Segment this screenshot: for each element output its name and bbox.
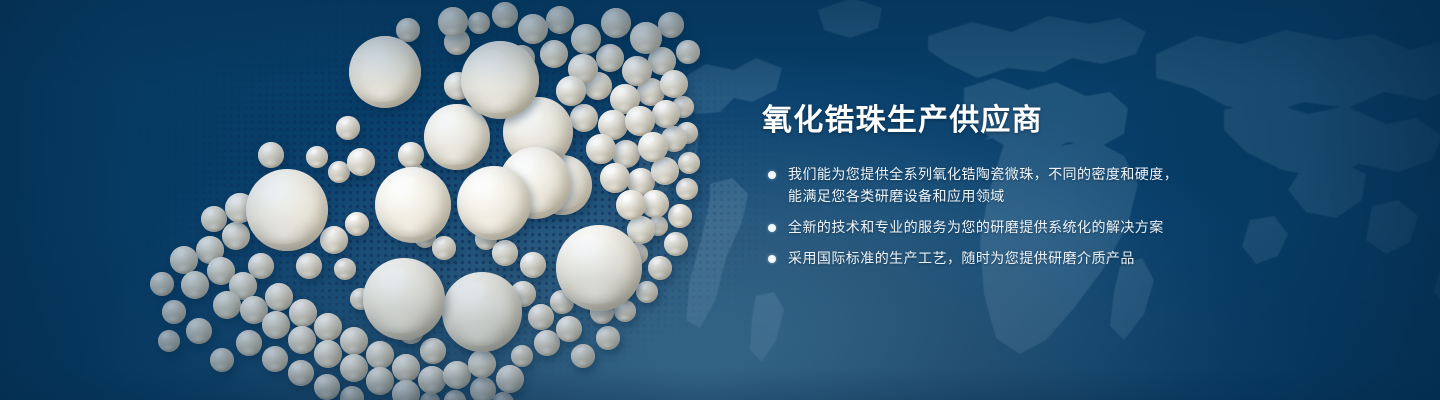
bullet-line: 全新的技术和专业的服务为您的研磨提供系统化的解决方案: [788, 220, 1164, 236]
bullet-text: 采用国际标准的生产工艺，随时为您提供研磨介质产品: [788, 248, 1382, 270]
hero-banner: 氧化锆珠生产供应商 我们能为您提供全系列氧化锆陶瓷微珠，不同的密度和硬度，能满足…: [0, 0, 1440, 400]
banner-headline: 氧化锆珠生产供应商: [762, 104, 1382, 138]
banner-bullet-item: 全新的技术和专业的服务为您的研磨提供系统化的解决方案: [762, 217, 1382, 239]
banner-bullet-list: 我们能为您提供全系列氧化锆陶瓷微珠，不同的密度和硬度，能满足您各类研磨设备和应用…: [762, 164, 1382, 270]
bullet-dot-icon: [768, 224, 776, 232]
bullet-line: 我们能为您提供全系列氧化锆陶瓷微珠，不同的密度和硬度，: [788, 167, 1178, 183]
bullet-text: 我们能为您提供全系列氧化锆陶瓷微珠，不同的密度和硬度，能满足您各类研磨设备和应用…: [788, 164, 1382, 208]
bullet-dot-icon: [768, 171, 776, 179]
bullet-text: 全新的技术和专业的服务为您的研磨提供系统化的解决方案: [788, 217, 1382, 239]
bullet-line: 采用国际标准的生产工艺，随时为您提供研磨介质产品: [788, 251, 1135, 267]
bullet-line: 能满足您各类研磨设备和应用领域: [788, 186, 1382, 208]
bullet-dot-icon: [768, 255, 776, 263]
banner-text-block: 氧化锆珠生产供应商 我们能为您提供全系列氧化锆陶瓷微珠，不同的密度和硬度，能满足…: [762, 104, 1382, 270]
banner-bullet-item: 我们能为您提供全系列氧化锆陶瓷微珠，不同的密度和硬度，能满足您各类研磨设备和应用…: [762, 164, 1382, 208]
banner-bullet-item: 采用国际标准的生产工艺，随时为您提供研磨介质产品: [762, 248, 1382, 270]
